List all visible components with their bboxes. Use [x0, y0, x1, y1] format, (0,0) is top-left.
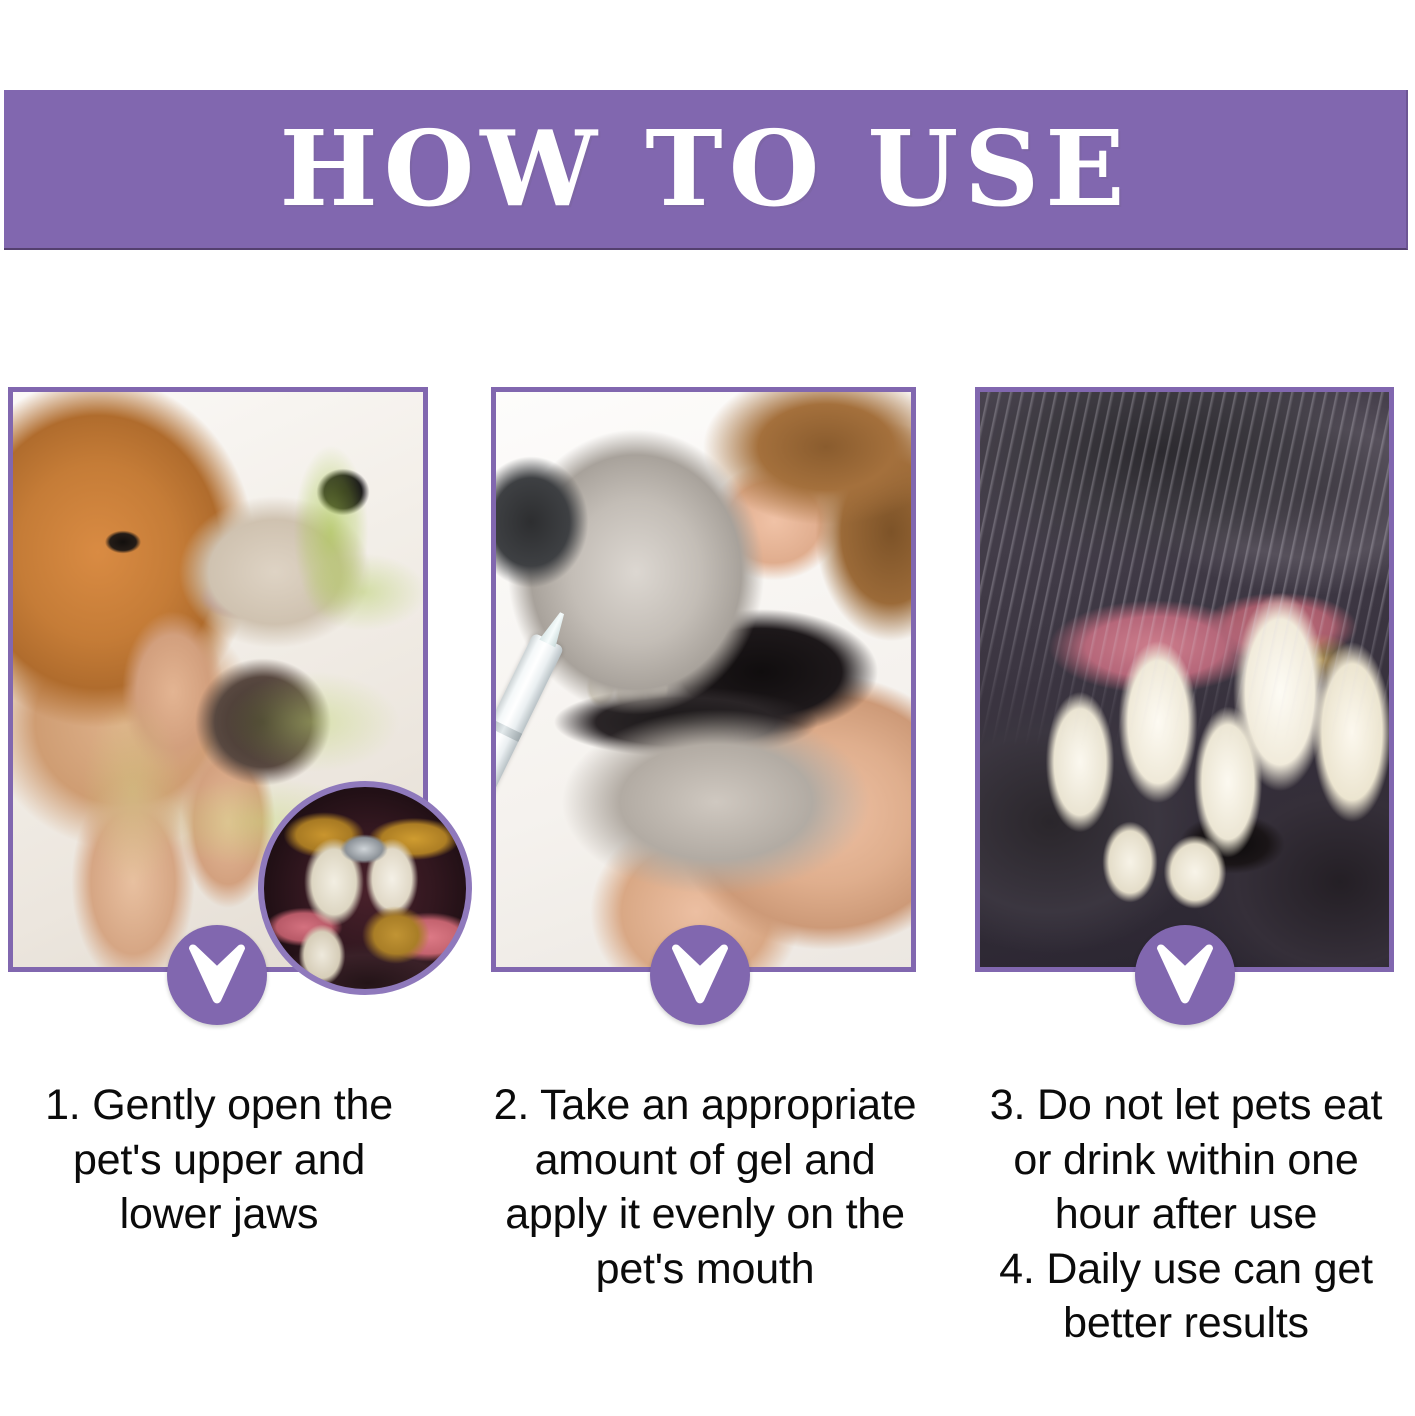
caption-line: pet's upper and: [4, 1133, 434, 1188]
page-title: HOW TO USE: [4, 117, 1406, 221]
chevron-down-icon: [671, 943, 729, 1005]
applicator-tip-icon: [539, 609, 570, 647]
step-1-caption: 1. Gently open the pet's upper and lower…: [4, 1078, 434, 1242]
chevron-down-icon: [188, 943, 246, 1005]
caption-line: hour after use: [960, 1187, 1412, 1242]
step-2-chevron-badge: [650, 925, 750, 1025]
gel-application-photo: [496, 392, 911, 967]
caption-line: or drink within one: [960, 1133, 1412, 1188]
tartar-closeup-inset: [258, 781, 472, 995]
caption-line: 1. Gently open the: [4, 1078, 434, 1133]
step-1-chevron-badge: [167, 925, 267, 1025]
step-3-chevron-badge: [1135, 925, 1235, 1025]
clean-teeth-photo: [980, 392, 1389, 967]
how-to-use-banner: HOW TO USE: [4, 90, 1408, 250]
caption-line: apply it evenly on the: [475, 1187, 935, 1242]
gel-applicator-pen: [491, 633, 564, 877]
caption-line: better results: [960, 1296, 1412, 1351]
chevron-down-icon: [1156, 943, 1214, 1005]
caption-line: 2. Take an appropriate: [475, 1078, 935, 1133]
applicator-band: [491, 719, 522, 742]
caption-line: 3. Do not let pets eat: [960, 1078, 1412, 1133]
caption-line: 4. Daily use can get: [960, 1242, 1412, 1297]
step-2-image-panel: [491, 387, 916, 972]
whisker-texture-overlay: [980, 392, 1389, 967]
step-3-caption: 3. Do not let pets eat or drink within o…: [960, 1078, 1412, 1351]
caption-line: lower jaws: [4, 1187, 434, 1242]
caption-line: amount of gel and: [475, 1133, 935, 1188]
caption-line: pet's mouth: [475, 1242, 935, 1297]
step-3-image-panel: [975, 387, 1394, 972]
step-2-caption: 2. Take an appropriate amount of gel and…: [475, 1078, 935, 1296]
